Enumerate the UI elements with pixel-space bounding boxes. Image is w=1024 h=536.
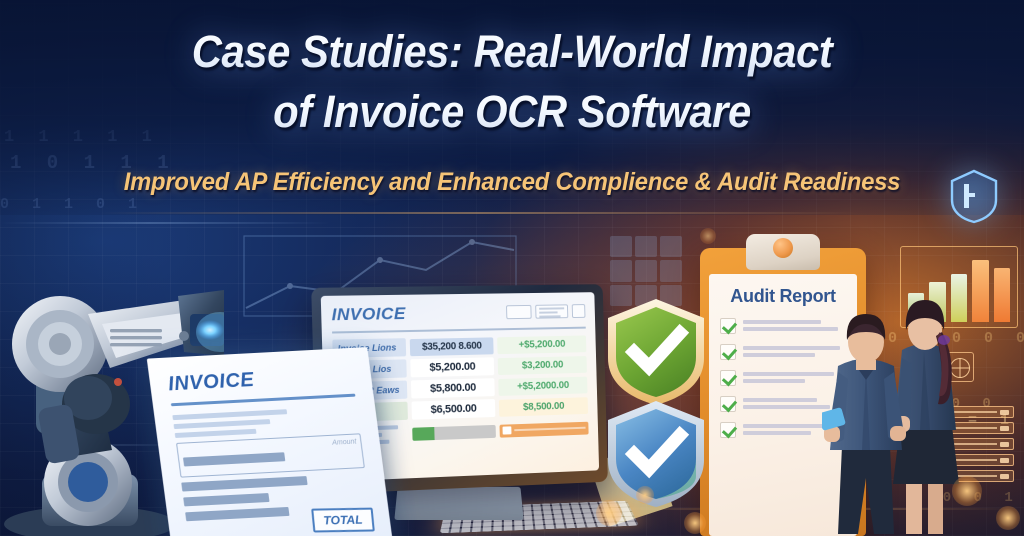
- row-amount: $5,200.00: [410, 357, 494, 377]
- chart-bar: [994, 268, 1010, 322]
- page-subtitle: Improved AP Efficiency and Enhanced Comp…: [26, 168, 999, 197]
- check-mark-icon[interactable]: [720, 370, 736, 386]
- check-mark-icon[interactable]: [720, 422, 736, 438]
- row-delta: +$5,2000.00: [498, 376, 587, 395]
- paper-invoice-field-row: Amount: [176, 433, 365, 477]
- divider: [332, 327, 586, 334]
- paper-invoice-title: INVOICE: [167, 364, 354, 396]
- paper-invoice-document: INVOICE Amount TOTAL: [147, 347, 393, 536]
- clipboard-clamp: [746, 234, 820, 270]
- toolbar-button[interactable]: [572, 304, 586, 318]
- toolbar-button[interactable]: [506, 305, 532, 319]
- monitor-stand: [394, 487, 523, 520]
- check-mark-icon[interactable]: [720, 318, 736, 334]
- row-delta: $8,500.00: [499, 397, 588, 417]
- screen-header: INVOICE: [331, 301, 585, 325]
- businessman-figure: [822, 306, 910, 536]
- security-shield-blue: [604, 398, 708, 510]
- row-delta: +$5,200.00: [497, 335, 586, 354]
- title-line-2: of Invoice OCR Software: [36, 82, 988, 142]
- row-delta: $3,200.00: [498, 356, 587, 375]
- primary-action-button[interactable]: [499, 421, 588, 437]
- compliance-shield-green: [604, 296, 708, 408]
- row-amount: $6,500.00: [411, 399, 495, 420]
- screen-title: INVOICE: [331, 304, 406, 326]
- divider: [171, 394, 356, 407]
- screen-toolbar: [506, 304, 585, 319]
- check-mark-icon[interactable]: [720, 396, 736, 412]
- title-line-1: Case Studies: Real-World Impact: [36, 22, 988, 82]
- hero-banner: 1 1 1 1 1 1 0 1 1 1 0 1 1 0 1 1 0 0 1 0 …: [0, 0, 1024, 536]
- chart-bar: [972, 260, 988, 322]
- progress-bar: [412, 424, 496, 440]
- table-row[interactable]: Invoice Lions $35,200 8.600 +$5,200.00: [332, 334, 586, 358]
- paper-invoice-total-box: TOTAL: [311, 508, 375, 533]
- check-mark-icon[interactable]: [720, 344, 736, 360]
- row-amount: $35,200 8.600: [410, 337, 494, 356]
- row-amount: $5,800.00: [411, 378, 495, 398]
- audit-report-title: Audit Report: [720, 286, 846, 307]
- toolbar-button[interactable]: [535, 304, 568, 318]
- page-title: Case Studies: Real-World Impact of Invoi…: [0, 22, 1024, 142]
